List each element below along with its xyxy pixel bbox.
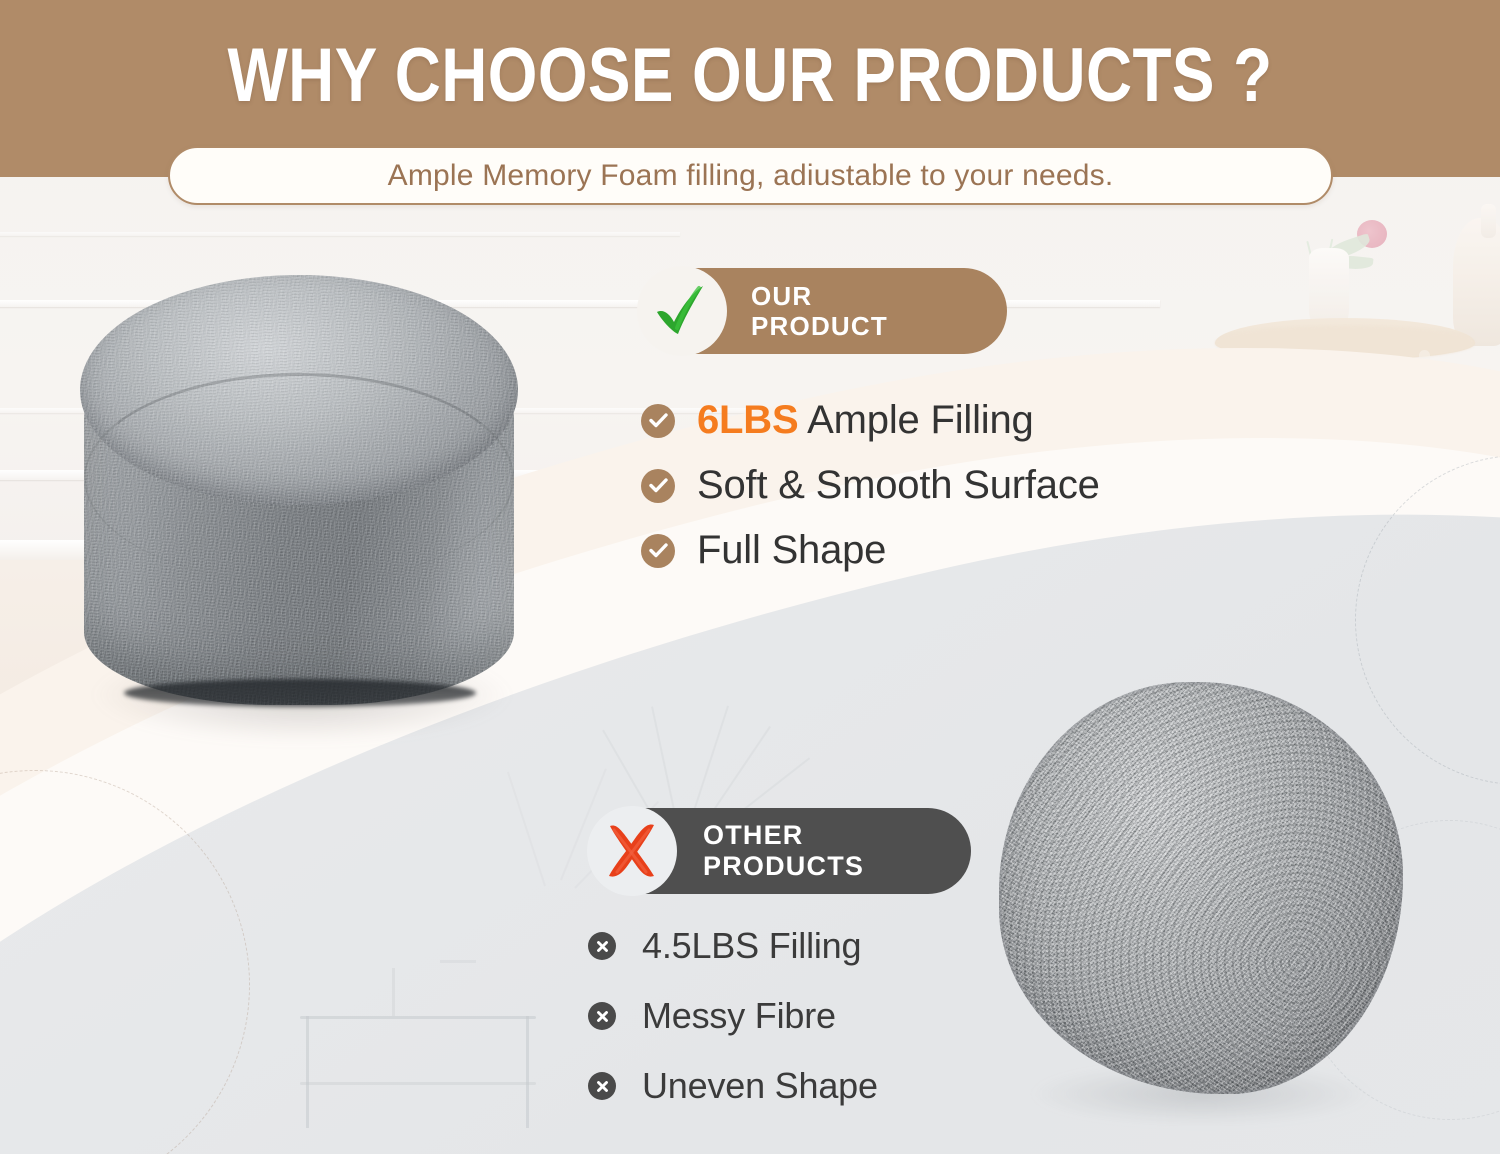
feature-item: 6LBS Ample Filling <box>641 398 1281 443</box>
infographic-canvas: WHY CHOOSE OUR PRODUCTS ? Ample Memory F… <box>0 0 1500 1154</box>
feature-text: Messy Fibre <box>642 995 836 1037</box>
check-circle-icon <box>641 404 675 438</box>
page-title: WHY CHOOSE OUR PRODUCTS ? <box>120 34 1380 118</box>
badge-label-line2: PRODUCTS <box>703 851 864 882</box>
subtitle-pill: Ample Memory Foam filling, adiustable to… <box>168 146 1333 205</box>
our-product-feature-list: 6LBS Ample Filling Soft & Smooth Surface… <box>641 398 1281 593</box>
badge-icon-circle <box>637 266 727 356</box>
our-product-image <box>66 255 536 740</box>
feature-label: Full Shape <box>697 528 886 572</box>
decor-ghost-console <box>300 950 550 1130</box>
our-product-badge: OUR PRODUCT <box>639 268 1007 354</box>
feature-text: Uneven Shape <box>642 1065 878 1107</box>
badge-label-group: OTHER PRODUCTS <box>703 820 864 882</box>
badge-label-group: OUR PRODUCT <box>751 281 888 341</box>
feature-text: 4.5LBS Filling <box>642 925 861 967</box>
red-cross-brush-icon <box>600 820 664 882</box>
x-circle-icon <box>588 1002 616 1030</box>
feature-item: Soft & Smooth Surface <box>641 463 1281 508</box>
badge-label-line2: PRODUCT <box>751 311 888 341</box>
feature-label: Soft & Smooth Surface <box>697 463 1100 507</box>
green-check-brush-icon <box>651 282 713 340</box>
wall-moulding <box>0 232 680 236</box>
feature-label: Ample Filling <box>807 398 1033 442</box>
x-circle-icon <box>588 932 616 960</box>
feature-text: Full Shape <box>697 528 886 573</box>
pouf-seam-line <box>84 373 514 583</box>
pouf-base-rim <box>124 679 476 707</box>
feature-highlight: 6LBS <box>697 398 798 442</box>
check-circle-icon <box>641 469 675 503</box>
x-circle-icon <box>588 1072 616 1100</box>
feature-item: Full Shape <box>641 528 1281 573</box>
other-products-feature-list: 4.5LBS Filling Messy Fibre Uneven Shape <box>588 925 1208 1135</box>
check-circle-icon <box>641 534 675 568</box>
feature-text: Soft & Smooth Surface <box>697 463 1100 508</box>
feature-text: 6LBS Ample Filling <box>697 398 1034 443</box>
subtitle-text: Ample Memory Foam filling, adiustable to… <box>388 159 1114 193</box>
other-products-badge: OTHER PRODUCTS <box>589 808 971 894</box>
badge-label-line1: OUR <box>751 281 888 311</box>
feature-item: Messy Fibre <box>588 995 1208 1037</box>
feature-item: Uneven Shape <box>588 1065 1208 1107</box>
decor-vase-neck <box>1481 204 1496 238</box>
feature-item: 4.5LBS Filling <box>588 925 1208 967</box>
badge-label-line1: OTHER <box>703 820 864 851</box>
badge-icon-circle <box>587 806 677 896</box>
